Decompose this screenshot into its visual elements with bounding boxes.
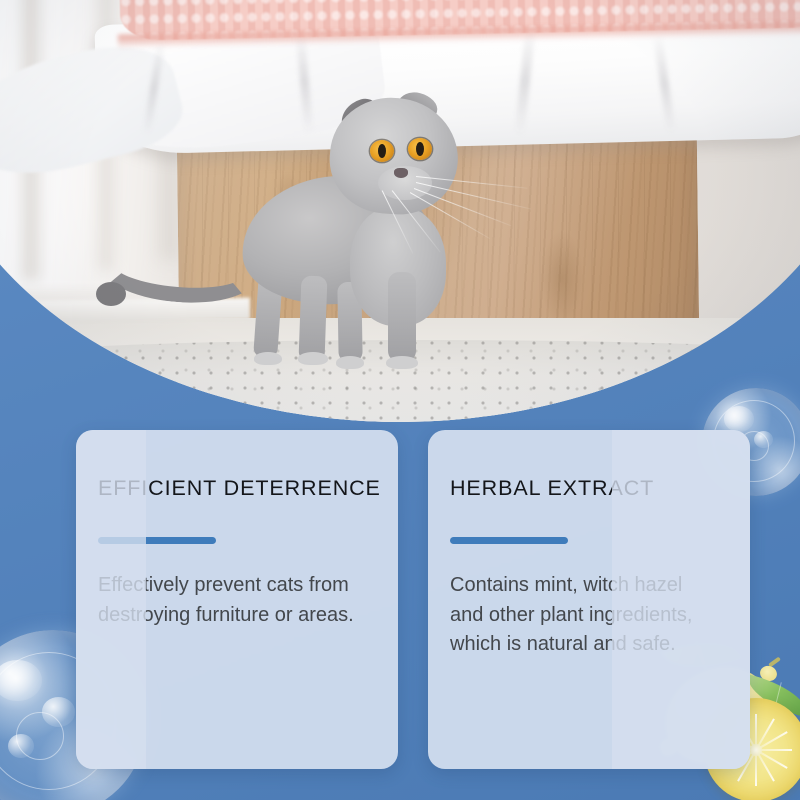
- feature-card-herbal-extract[interactable]: HERBAL EXTRACT Contains mint, witch haze…: [428, 430, 750, 769]
- product-feature-page: EFFICIENT DETERRENCE Effectively prevent…: [0, 0, 800, 800]
- feature-card-efficient-deterrence[interactable]: EFFICIENT DETERRENCE Effectively prevent…: [76, 430, 398, 769]
- card-body-text: Contains mint, witch hazel and other pla…: [450, 571, 708, 660]
- card-title: EFFICIENT DETERRENCE: [76, 476, 398, 501]
- card-divider-rule: [98, 537, 216, 544]
- card-body-text: Effectively prevent cats from destroying…: [98, 571, 370, 630]
- card-divider-rule: [450, 537, 568, 544]
- card-title: HERBAL EXTRACT: [428, 476, 750, 501]
- feature-card-list: EFFICIENT DETERRENCE Effectively prevent…: [0, 0, 800, 800]
